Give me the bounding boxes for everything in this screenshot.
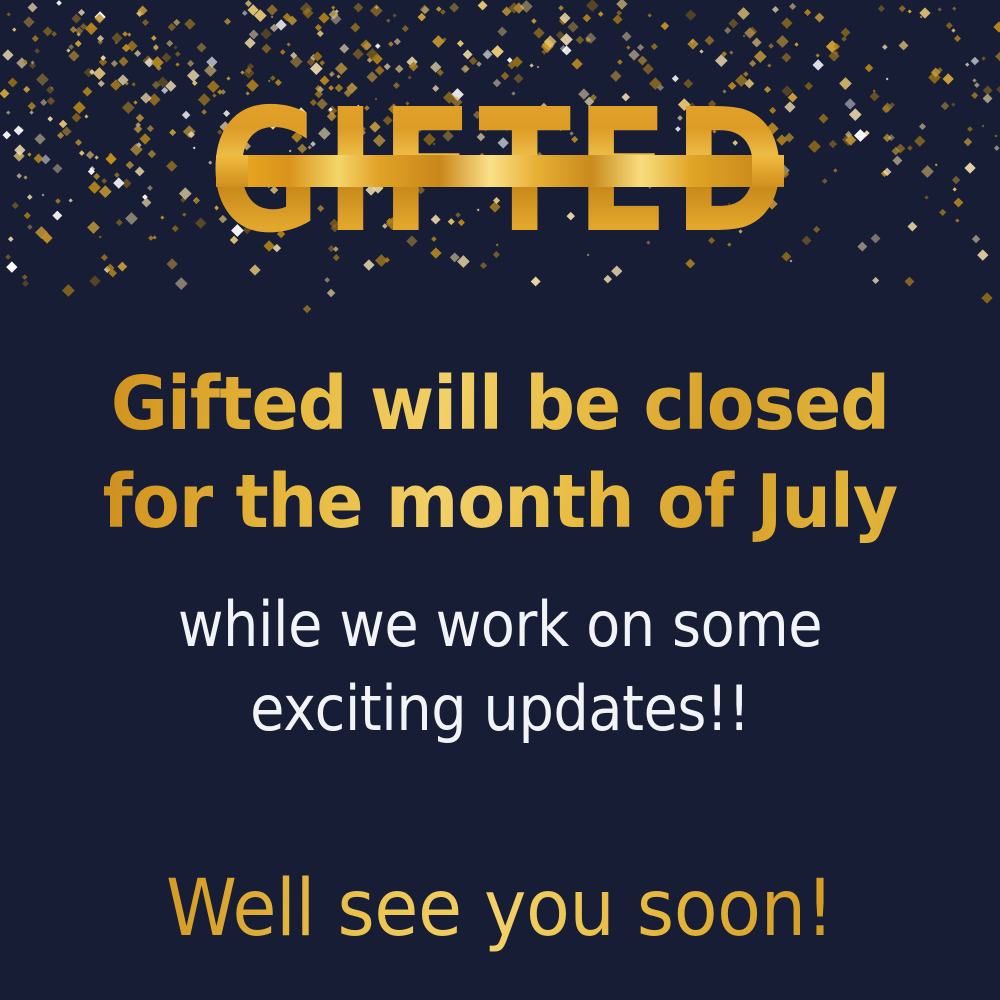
confetti-square — [32, 35, 38, 41]
confetti-square — [841, 27, 851, 37]
headline-line-1: Gifted will be closed — [30, 355, 970, 453]
confetti-square — [833, 42, 840, 49]
confetti-square — [334, 14, 338, 18]
confetti-square — [616, 10, 622, 16]
confetti-square — [6, 261, 17, 272]
confetti-square — [224, 18, 231, 25]
confetti-square — [97, 35, 104, 42]
confetti-square — [705, 36, 715, 46]
confetti-square — [559, 16, 568, 25]
confetti-square — [627, 46, 631, 50]
confetti-square — [576, 35, 584, 43]
confetti-square — [560, 12, 571, 23]
confetti-square — [748, 27, 757, 36]
confetti-square — [324, 277, 330, 283]
confetti-square — [937, 7, 942, 12]
confetti-square — [617, 0, 628, 10]
confetti-square — [899, 41, 909, 51]
confetti-square — [327, 289, 336, 298]
confetti-square — [449, 253, 459, 263]
confetti-square — [13, 27, 17, 31]
confetti-square — [621, 32, 631, 42]
confetti-square — [687, 38, 698, 49]
confetti-square — [363, 41, 372, 50]
confetti-square — [585, 33, 596, 44]
confetti-square — [729, 19, 739, 29]
confetti-square — [387, 19, 391, 23]
confetti-square — [872, 277, 879, 284]
confetti-square — [560, 19, 566, 25]
confetti-square — [441, 9, 446, 14]
confetti-square — [804, 9, 811, 16]
confetti-square — [104, 266, 110, 272]
confetti-square — [97, 39, 103, 45]
confetti-square — [270, 23, 279, 32]
confetti-square — [742, 34, 745, 37]
confetti-square — [841, 36, 847, 42]
confetti-square — [51, 31, 57, 37]
confetti-square — [497, 27, 506, 36]
confetti-square — [249, 30, 259, 40]
confetti-square — [283, 13, 291, 21]
subhead: while we work on some exciting updates!! — [0, 583, 1000, 751]
confetti-square — [612, 265, 623, 276]
confetti-square — [794, 42, 798, 46]
confetti-square — [242, 10, 247, 15]
confetti-square — [153, 44, 159, 50]
confetti-square — [88, 23, 95, 30]
confetti-square — [166, 258, 178, 270]
signoff-line: Well see you soon! — [40, 861, 960, 957]
confetti-square — [513, 2, 524, 13]
confetti-square — [360, 39, 371, 50]
confetti-square — [248, 4, 260, 16]
confetti-square — [375, 254, 387, 266]
confetti-square — [782, 252, 791, 261]
confetti-square — [436, 6, 441, 11]
confetti-square — [315, 24, 322, 31]
confetti-square — [904, 277, 914, 287]
confetti-square — [300, 2, 312, 14]
confetti-square — [138, 6, 148, 16]
confetti-square — [122, 31, 128, 37]
confetti-square — [95, 13, 105, 23]
confetti-square — [555, 30, 564, 39]
confetti-square — [78, 9, 85, 16]
confetti-square — [72, 13, 81, 22]
confetti-square — [826, 41, 838, 53]
confetti-square — [691, 40, 695, 44]
confetti-square — [388, 42, 393, 47]
confetti-square — [363, 260, 374, 271]
confetti-square — [353, 3, 363, 13]
confetti-square — [254, 9, 266, 21]
confetti-square — [432, 35, 444, 47]
confetti-square — [420, 4, 430, 14]
confetti-square — [76, 32, 81, 37]
confetti-square — [418, 12, 426, 20]
confetti-square — [790, 259, 793, 262]
confetti-square — [152, 36, 157, 41]
confetti-square — [776, 36, 789, 49]
confetti-square — [70, 26, 77, 33]
confetti-square — [27, 3, 37, 13]
confetti-square — [80, 22, 87, 29]
confetti-square — [442, 38, 446, 42]
confetti-square — [394, 38, 401, 45]
headline: Gifted will be closed for the month of J… — [0, 355, 1000, 551]
confetti-square — [75, 40, 81, 46]
confetti-square — [558, 5, 564, 11]
confetti-square — [604, 274, 612, 282]
logo-svg: GIFTED — [0, 52, 1000, 252]
confetti-square — [531, 18, 537, 24]
confetti-square — [951, 28, 955, 32]
confetti-square — [772, 6, 779, 13]
confetti-square — [90, 276, 101, 287]
confetti-square — [334, 10, 339, 15]
announcement-poster: GIFTED Gifted will be closed for the mon… — [0, 0, 1000, 1000]
confetti-square — [101, 254, 108, 261]
confetti-square — [62, 284, 74, 296]
confetti-square — [375, 44, 380, 49]
confetti-square — [136, 10, 144, 18]
confetti-square — [530, 277, 540, 287]
confetti-square — [370, 5, 382, 17]
confetti-square — [68, 44, 74, 50]
confetti-square — [919, 7, 930, 18]
confetti-square — [567, 22, 578, 33]
confetti-square — [544, 35, 556, 47]
confetti-square — [43, 26, 53, 36]
confetti-square — [480, 262, 487, 269]
confetti-square — [109, 269, 117, 277]
confetti-square — [882, 44, 887, 49]
confetti-square — [244, 38, 255, 49]
confetti-square — [737, 7, 750, 20]
confetti-square — [85, 22, 97, 34]
confetti-square — [457, 255, 469, 267]
headline-line-2: for the month of July — [30, 453, 970, 551]
confetti-square — [384, 257, 390, 263]
confetti-square — [287, 15, 296, 24]
confetti-square — [319, 12, 331, 24]
confetti-square — [127, 33, 131, 37]
confetti-square — [333, 254, 339, 260]
confetti-square — [402, 25, 409, 32]
confetti-square — [782, 17, 793, 28]
confetti-square — [173, 19, 181, 27]
confetti-square — [520, 0, 532, 12]
gifted-logo: GIFTED — [0, 52, 1000, 252]
confetti-square — [249, 264, 260, 275]
confetti-square — [95, 11, 107, 23]
confetti-square — [175, 278, 187, 290]
confetti-square — [75, 26, 84, 35]
confetti-square — [317, 30, 323, 36]
confetti-square — [502, 6, 512, 16]
confetti-square — [114, 42, 117, 45]
confetti-square — [560, 45, 567, 52]
confetti-square — [275, 19, 287, 31]
confetti-square — [184, 18, 195, 29]
confetti-square — [23, 16, 34, 27]
confetti-square — [22, 274, 27, 279]
ribbon-banner — [216, 155, 784, 187]
confetti-square — [168, 23, 176, 31]
confetti-square — [953, 6, 957, 10]
confetti-square — [508, 3, 519, 14]
confetti-square — [585, 37, 591, 43]
confetti-square — [270, 16, 273, 19]
confetti-square — [789, 2, 796, 9]
confetti-square — [954, 35, 961, 42]
confetti-square — [993, 22, 1000, 33]
confetti-square — [493, 251, 500, 258]
confetti-square — [375, 6, 380, 11]
confetti-square — [106, 264, 115, 273]
confetti-square — [982, 292, 993, 303]
message-block: Gifted will be closed for the month of J… — [0, 355, 1000, 957]
subhead-line-1: while we work on some — [50, 583, 950, 667]
confetti-square — [647, 13, 652, 18]
confetti-square — [6, 12, 11, 17]
confetti-square — [141, 19, 148, 26]
confetti-square — [752, 37, 762, 47]
confetti-square — [946, 22, 952, 28]
confetti-square — [5, 254, 11, 260]
confetti-square — [449, 3, 458, 12]
confetti-square — [907, 9, 912, 14]
confetti-square — [815, 12, 825, 22]
confetti-square — [118, 261, 127, 270]
confetti-square — [919, 15, 922, 18]
confetti-square — [392, 13, 396, 17]
confetti-square — [153, 45, 158, 50]
confetti-square — [57, 0, 63, 6]
confetti-square — [651, 43, 658, 50]
confetti-square — [686, 9, 697, 20]
confetti-square — [245, 0, 252, 7]
confetti-square — [586, 253, 589, 256]
confetti-square — [899, 5, 905, 11]
confetti-square — [587, 0, 599, 12]
confetti-square — [329, 9, 339, 19]
confetti-square — [302, 8, 313, 19]
confetti-square — [331, 6, 335, 10]
confetti-square — [724, 26, 731, 33]
confetti-square — [878, 5, 885, 12]
confetti-square — [266, 4, 278, 16]
confetti-square — [420, 6, 429, 15]
confetti-square — [22, 280, 29, 287]
confetti-square — [457, 40, 464, 47]
confetti-square — [561, 33, 574, 46]
confetti-square — [111, 32, 123, 44]
confetti-square — [173, 45, 177, 49]
confetti-square — [351, 23, 360, 32]
confetti-square — [286, 42, 291, 47]
confetti-square — [477, 0, 487, 10]
confetti-square — [686, 259, 695, 268]
confetti-square — [126, 40, 137, 51]
confetti-square — [598, 11, 603, 16]
confetti-square — [533, 27, 544, 38]
confetti-square — [543, 39, 555, 51]
confetti-square — [637, 44, 644, 51]
confetti-square — [541, 41, 553, 53]
confetti-square — [583, 14, 591, 22]
confetti-square — [331, 13, 342, 24]
confetti-square — [261, 28, 273, 40]
confetti-square — [303, 305, 312, 314]
confetti-square — [768, 43, 774, 49]
confetti-square — [613, 15, 623, 25]
confetti-square — [660, 22, 668, 30]
subhead-line-2: exciting updates!! — [50, 667, 950, 751]
confetti-square — [744, 27, 755, 38]
confetti-square — [165, 40, 173, 48]
